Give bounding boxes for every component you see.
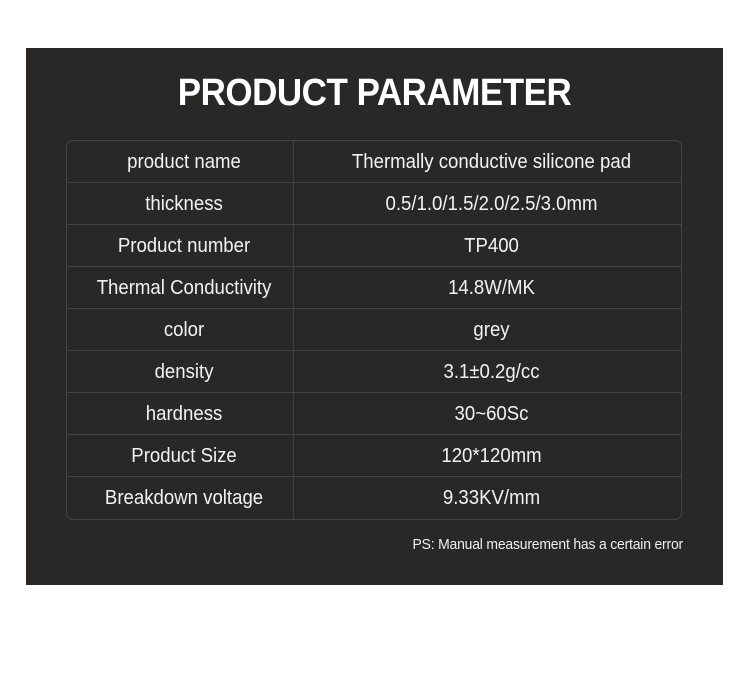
spec-value-product-number: TP400: [315, 225, 667, 266]
measurement-disclaimer-note: PS: Manual measurement has a certain err…: [72, 536, 683, 553]
table-row: Breakdown voltage 9.33KV/mm: [67, 477, 681, 519]
spec-value-product-name: Thermally conductive silicone pad: [315, 141, 667, 182]
spec-key-breakdown-voltage: Breakdown voltage: [75, 477, 294, 519]
spec-value-breakdown-voltage: 9.33KV/mm: [315, 477, 667, 519]
spec-key-product-name: product name: [75, 141, 294, 182]
spec-value-thickness: 0.5/1.0/1.5/2.0/2.5/3.0mm: [315, 183, 667, 224]
product-parameter-panel: PRODUCT PARAMETER product name Thermally…: [26, 48, 723, 585]
spec-key-product-number: Product number: [75, 225, 294, 266]
spec-key-hardness: hardness: [75, 393, 294, 434]
spec-key-product-size: Product Size: [75, 435, 294, 476]
spec-key-color: color: [75, 309, 294, 350]
spec-value-color: grey: [315, 309, 667, 350]
product-parameter-page: PRODUCT PARAMETER product name Thermally…: [0, 0, 750, 693]
spec-key-density: density: [75, 351, 294, 392]
spec-value-hardness: 30~60Sc: [315, 393, 667, 434]
page-title: PRODUCT PARAMETER: [54, 74, 695, 112]
spec-key-thickness: thickness: [75, 183, 294, 224]
table-row: Thermal Conductivity 14.8W/MK: [67, 267, 681, 309]
spec-key-thermal-conductivity: Thermal Conductivity: [75, 267, 294, 308]
spec-value-density: 3.1±0.2g/cc: [315, 351, 667, 392]
table-row: color grey: [67, 309, 681, 351]
table-row: density 3.1±0.2g/cc: [67, 351, 681, 393]
table-row: hardness 30~60Sc: [67, 393, 681, 435]
spec-value-product-size: 120*120mm: [315, 435, 667, 476]
specification-table: product name Thermally conductive silico…: [66, 140, 682, 520]
table-row: Product number TP400: [67, 225, 681, 267]
table-row: Product Size 120*120mm: [67, 435, 681, 477]
table-row: thickness 0.5/1.0/1.5/2.0/2.5/3.0mm: [67, 183, 681, 225]
spec-value-thermal-conductivity: 14.8W/MK: [315, 267, 667, 308]
table-row: product name Thermally conductive silico…: [67, 141, 681, 183]
